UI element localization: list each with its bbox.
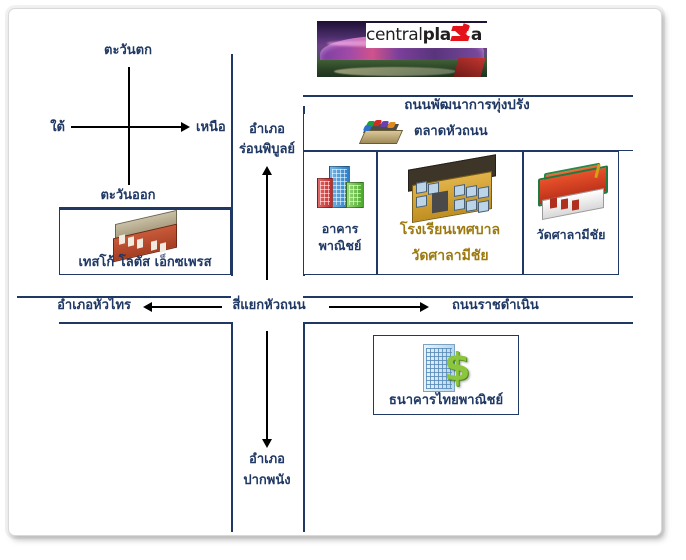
office-buildings-icon: [315, 164, 367, 212]
logo-wordmark: centralplaa: [366, 23, 487, 48]
compass-label-top: ตะวันตก: [104, 42, 152, 59]
direction-down-arrowhead: [262, 439, 272, 448]
map-canvas: ตะวันตก ใต้ เหนือ ตะวันออก ถนนพัฒนาการทุ…: [9, 9, 661, 535]
road-line-vertical-upper-left: [231, 54, 233, 276]
commercial-label-line2: พาณิชย์: [304, 237, 376, 254]
direction-up-arrowhead: [262, 166, 272, 175]
compass-label-right: เหนือ: [196, 119, 226, 136]
direction-down-label-line1: อำเภอ: [249, 451, 285, 468]
direction-up-arrow-shaft: [266, 174, 268, 280]
tesco-lotus-cell[interactable]: เทสโก้ โลตัส เอ็กซเพรส: [59, 209, 231, 275]
bank-building-dollar-icon: $: [420, 342, 476, 392]
direction-down-arrow-shaft: [266, 331, 268, 443]
market-label: ตลาดหัวถนน: [414, 123, 488, 140]
logo-word-central: central: [366, 25, 423, 45]
school-label-line1: โรงเรียนเทศบาล: [378, 220, 522, 240]
centralplaza-logo: centralplaa: [317, 21, 487, 77]
direction-east-label: ถนนราชดำเนิน: [452, 297, 539, 314]
logo-z-mark-icon: [451, 24, 471, 44]
diagram-frame: ตะวันตก ใต้ เหนือ ตะวันออก ถนนพัฒนาการทุ…: [8, 8, 662, 536]
compass-label-left: ใต้: [50, 119, 65, 136]
temple-cell[interactable]: วัดศาลามีชัย: [523, 151, 619, 275]
direction-west-arrow-shaft: [152, 306, 222, 308]
direction-east-arrowhead: [420, 302, 429, 312]
direction-up-label-line2: ร่อนพิบูลย์: [239, 141, 295, 158]
school-building-icon: [404, 158, 500, 220]
direction-west-arrowhead: [143, 302, 152, 312]
road-line-vertical-lower-right: [303, 322, 305, 532]
logo-plaza-path: [334, 67, 456, 76]
commercial-label-line1: อาคาร: [304, 220, 376, 237]
road-line-lower-left-block: [59, 322, 233, 324]
road-label-top: ถนนพัฒนาการทุ่งปรัง: [404, 97, 529, 114]
bank-label: ธนาคารไทยพาณิชย์: [374, 392, 518, 409]
junction-label: สี่แยกหัวถนน: [232, 297, 305, 314]
logo-roadway: [454, 58, 486, 77]
temple-label: วัดศาลามีชัย: [524, 226, 618, 243]
compass-horizontal-line: [71, 126, 183, 128]
school-cell[interactable]: โรงเรียนเทศบาล วัดศาลามีชัย: [377, 151, 523, 275]
direction-up-label-line1: อำเภอ: [249, 121, 285, 138]
tesco-label: เทสโก้ โลตัส เอ็กซเพรส: [60, 254, 230, 271]
compass-east-arrowhead: [181, 122, 190, 132]
logo-word-a: a: [471, 25, 482, 45]
market-stall-icon: [360, 119, 402, 145]
road-line-vertical-lower-left: [231, 322, 233, 532]
compass-label-bottom: ตะวันออก: [100, 187, 155, 204]
market-row[interactable]: ตลาดหัวถนน: [303, 114, 633, 151]
thai-temple-icon: [534, 166, 610, 222]
direction-east-arrow-shaft: [329, 306, 421, 308]
school-label-line2: วัดศาลามีชัย: [378, 246, 522, 266]
logo-word-pla: pla: [423, 25, 451, 45]
road-line-lower-right-block: [303, 322, 633, 324]
direction-west-label: อำเภอหัวไทร: [57, 297, 131, 314]
commercial-building-cell[interactable]: อาคาร พาณิชย์: [303, 151, 377, 275]
direction-down-label-line2: ปากพนัง: [243, 472, 290, 489]
bank-cell[interactable]: $ ธนาคารไทยพาณิชย์: [373, 335, 519, 415]
